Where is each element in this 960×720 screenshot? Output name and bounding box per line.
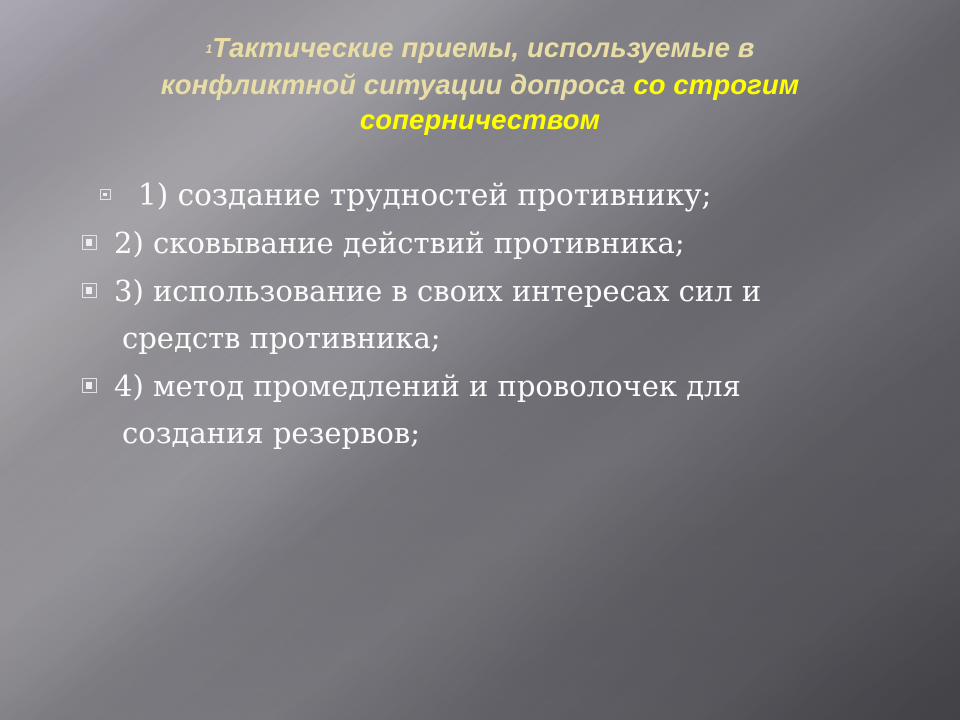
slide-title: 1Тактические приемы, используемые в конф… <box>64 30 896 137</box>
title-line-2: конфликтной ситуации допроса со строгим <box>64 67 896 102</box>
list-item-text: 2) сковывание действий противника; <box>112 220 884 267</box>
bullet-marker-cell <box>62 172 134 200</box>
list-item-line-wrapped: средств противника; <box>114 315 884 362</box>
title-line-1: 1Тактические приемы, используемые в <box>64 30 896 67</box>
hollow-square-bullet-icon <box>82 283 97 298</box>
list-item-line: 2) сковывание действий противника; <box>114 220 884 267</box>
hollow-square-bullet-icon <box>100 189 111 200</box>
slide-canvas: 1Тактические приемы, используемые в конф… <box>0 0 960 720</box>
title-line-3: соперничеством <box>64 102 896 137</box>
slide-content: 1Тактические приемы, используемые в конф… <box>0 0 960 720</box>
list-item: 3) использование в своих интересах сил и… <box>62 268 892 362</box>
list-item-line-wrapped: создания резервов; <box>114 410 884 457</box>
bullet-marker-cell <box>62 268 112 298</box>
title-line-3-yellow-text: соперничеством <box>360 104 600 135</box>
list-item-line: 4) метод промедлений и проволочек для <box>114 363 884 410</box>
title-line-2-cream-text: конфликтной ситуации допроса <box>161 69 634 100</box>
list-item-text: 1) создание трудностей противнику; <box>134 172 892 219</box>
list-item: 1) создание трудностей противнику; <box>62 172 892 219</box>
title-line-2-yellow-text: со строгим <box>633 69 799 100</box>
list-item-line: 1) создание трудностей противнику; <box>138 172 892 219</box>
bullet-list: 1) создание трудностей противнику; 2) ск… <box>62 172 892 457</box>
list-item-text: 3) использование в своих интересах сил и… <box>112 268 884 362</box>
list-item: 2) сковывание действий противника; <box>62 220 892 267</box>
bullet-marker-cell <box>62 363 112 393</box>
hollow-square-bullet-icon <box>82 235 97 250</box>
list-item-text: 4) метод промедлений и проволочек для со… <box>112 363 884 457</box>
title-line-1-text: Тактические приемы, используемые в <box>212 32 754 63</box>
list-item-line: 3) использование в своих интересах сил и <box>114 268 884 315</box>
hollow-square-bullet-icon <box>82 378 97 393</box>
list-item: 4) метод промедлений и проволочек для со… <box>62 363 892 457</box>
bullet-marker-cell <box>62 220 112 250</box>
